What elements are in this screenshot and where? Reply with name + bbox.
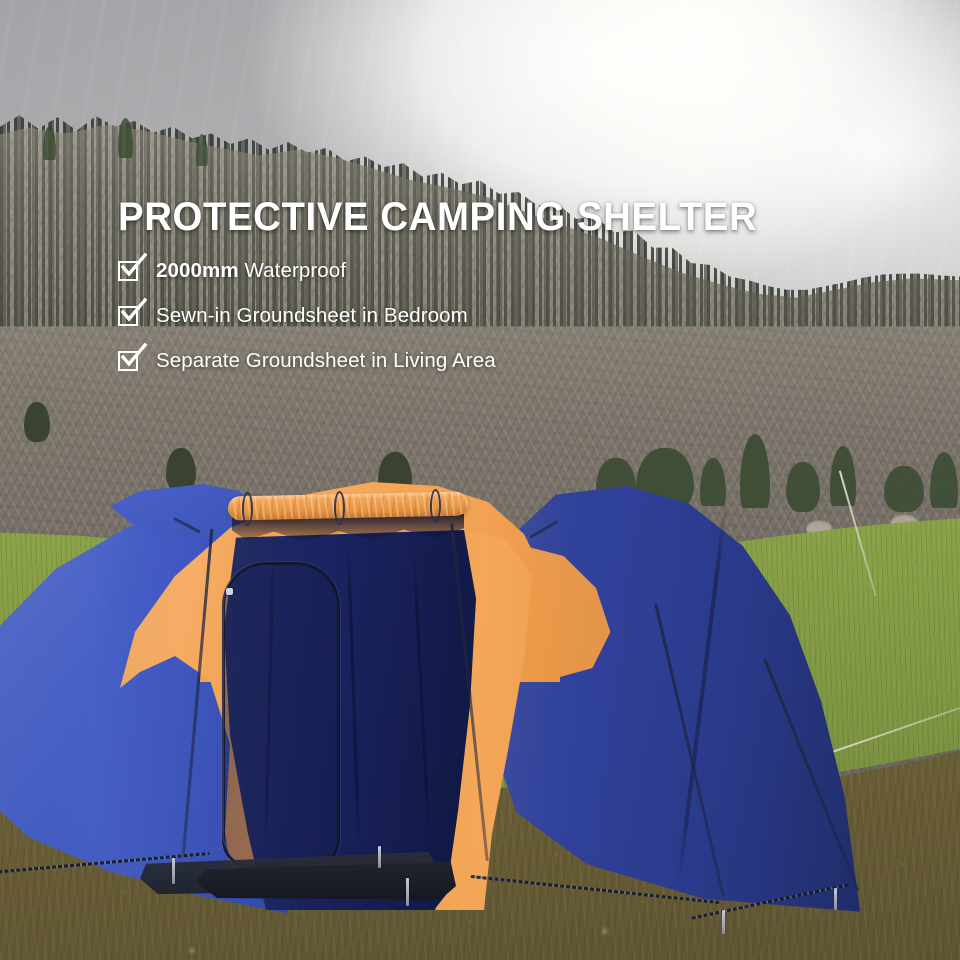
awning-strap: [430, 489, 441, 523]
feature-label: 2000mm Waterproof: [156, 259, 346, 283]
feature-label: Separate Groundsheet in Living Area: [156, 349, 496, 373]
awning-strap: [242, 492, 253, 526]
product-hero-image: PROTECTIVE CAMPING SHELTER 2000mm Waterp…: [0, 0, 960, 960]
feature-item: Separate Groundsheet in Living Area: [118, 349, 858, 373]
conifer-tree: [884, 466, 924, 512]
checkbox-checked-icon: [118, 304, 142, 328]
page-title: PROTECTIVE CAMPING SHELTER: [118, 196, 828, 238]
feature-label: Sewn-in Groundsheet in Bedroom: [156, 304, 468, 328]
checkbox-checked-icon: [118, 259, 142, 283]
tent-stake: [834, 888, 837, 910]
zipper-pull-icon[interactable]: [226, 588, 233, 595]
feature-item: Sewn-in Groundsheet in Bedroom: [118, 304, 858, 328]
tent-stake: [406, 878, 409, 906]
feature-label-bold: 2000mm: [156, 259, 239, 282]
tent-stake: [172, 858, 175, 884]
tent-door-zipper-inner-line: [222, 562, 336, 862]
tent-stake: [378, 846, 381, 868]
awning-strap: [334, 491, 345, 525]
tent-stake: [722, 910, 725, 934]
checkbox-checked-icon: [118, 349, 142, 373]
conifer-tree: [24, 402, 50, 442]
feature-label-rest: Waterproof: [239, 259, 346, 282]
feature-item: 2000mm Waterproof: [118, 259, 858, 283]
marketing-copy: PROTECTIVE CAMPING SHELTER 2000mm Waterp…: [118, 196, 858, 373]
camping-tent: [0, 470, 880, 940]
